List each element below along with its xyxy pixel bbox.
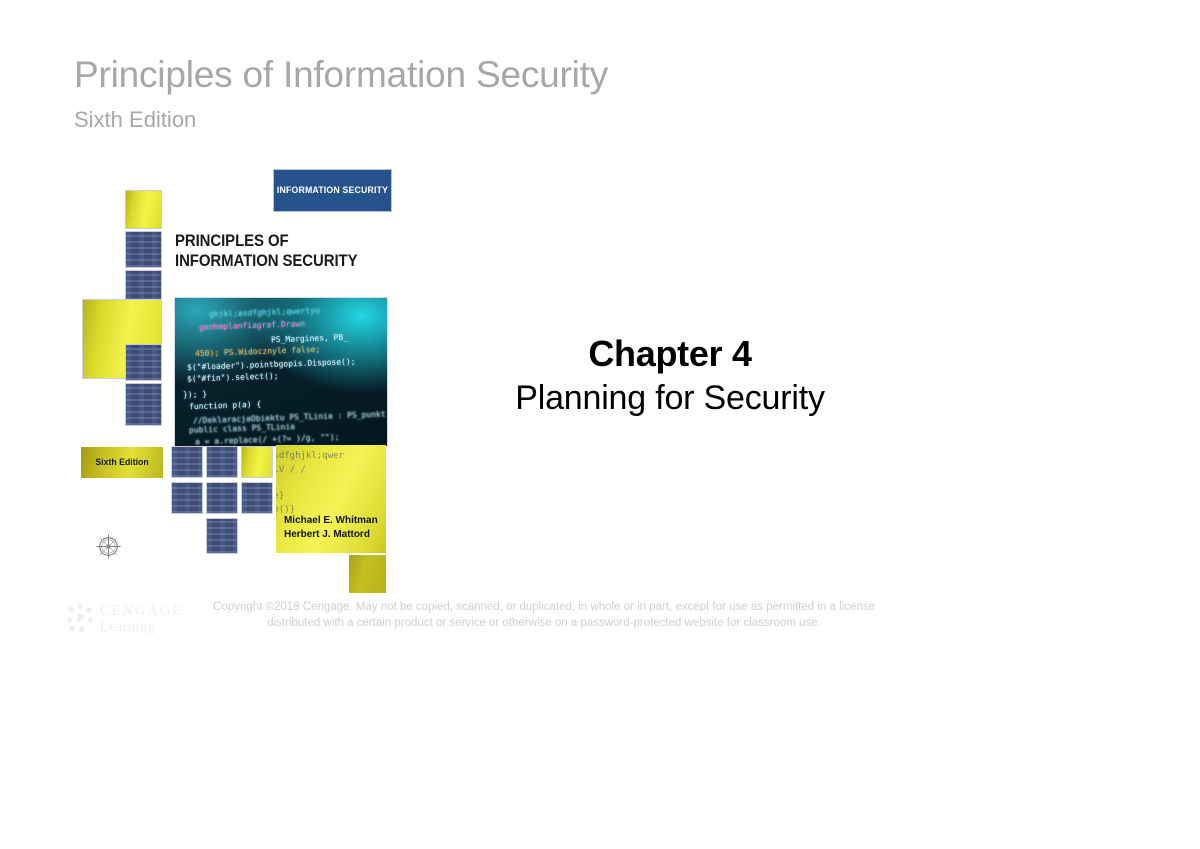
slide-header: Principles of Information Security Sixth…	[74, 56, 874, 131]
code-line-1: genhmplanfiagraf.Drawn	[199, 319, 305, 332]
cover-tile-blue-8	[206, 482, 238, 514]
cover-tile-blue-3	[125, 344, 162, 381]
cover-edition-badge: Sixth Edition	[81, 447, 163, 478]
cover-edition-label: Sixth Edition	[95, 457, 148, 468]
chapter-number: Chapter 4	[470, 336, 870, 372]
book-cover-image: INFORMATION SECURITY PRINCIPLES OF INFOR…	[76, 163, 396, 593]
cover-authors-block: asdfghjkl;qwer DLV / / ge} se()} Michael…	[276, 445, 386, 553]
cover-code-photo: ​ghjkl;asdfghjkl;qwertyu genhmplanfiagra…	[174, 297, 388, 447]
code-line-2: PS_Margines, PB_	[271, 333, 348, 345]
cover-author-2: Herbert J. Mattord	[284, 528, 378, 541]
cover-authors: Michael E. Whitman Herbert J. Mattord	[284, 514, 378, 541]
cover-tile-blue-4	[125, 383, 162, 426]
chapter-name: Planning for Security	[470, 380, 870, 417]
cover-tile-blue-1	[125, 231, 162, 268]
cengage-logo-name: CENGAGE	[100, 603, 183, 620]
cover-tile-yellow-1	[125, 190, 162, 229]
cover-tile-blue-6	[206, 446, 238, 478]
cover-author-1: Michael E. Whitman	[284, 514, 378, 527]
cover-tile-blue-7	[171, 482, 203, 514]
security-compass-emblem-icon	[95, 533, 122, 560]
cengage-logo-sub: Learning	[100, 620, 155, 636]
code-line-7: function p(a) {	[189, 400, 262, 412]
code-line-6: }); }	[183, 390, 207, 400]
cover-tile-yellow-3	[241, 446, 273, 478]
cover-title-line2: INFORMATION SECURITY	[175, 251, 364, 271]
chapter-title-block: Chapter 4 Planning for Security	[470, 336, 870, 417]
book-edition: Sixth Edition	[74, 109, 874, 131]
cover-tile-blue-9	[241, 482, 273, 514]
code-line-3: 450); PS.Widocznyle false;	[195, 345, 320, 358]
code-line-5: $("#fin").select();	[187, 371, 279, 383]
cengage-learning-logo: CENGAGE Learning	[66, 600, 194, 646]
code-line-4: $("#loader").pointbgopis.Dispose();	[187, 357, 356, 372]
cover-title: PRINCIPLES OF INFORMATION SECURITY	[175, 231, 364, 271]
cover-tile-yellow-4	[349, 555, 386, 593]
cover-tile-blue-5	[171, 446, 203, 478]
cover-tile-blue-10	[206, 518, 238, 554]
cover-title-line1: PRINCIPLES OF	[175, 231, 364, 251]
book-title: Principles of Information Security	[74, 56, 874, 93]
cover-banner-label: INFORMATION SECURITY	[277, 185, 388, 196]
cover-banner: INFORMATION SECURITY	[273, 169, 392, 212]
copyright-notice: Copyright ©2018 Cengage. May not be copi…	[206, 600, 882, 632]
